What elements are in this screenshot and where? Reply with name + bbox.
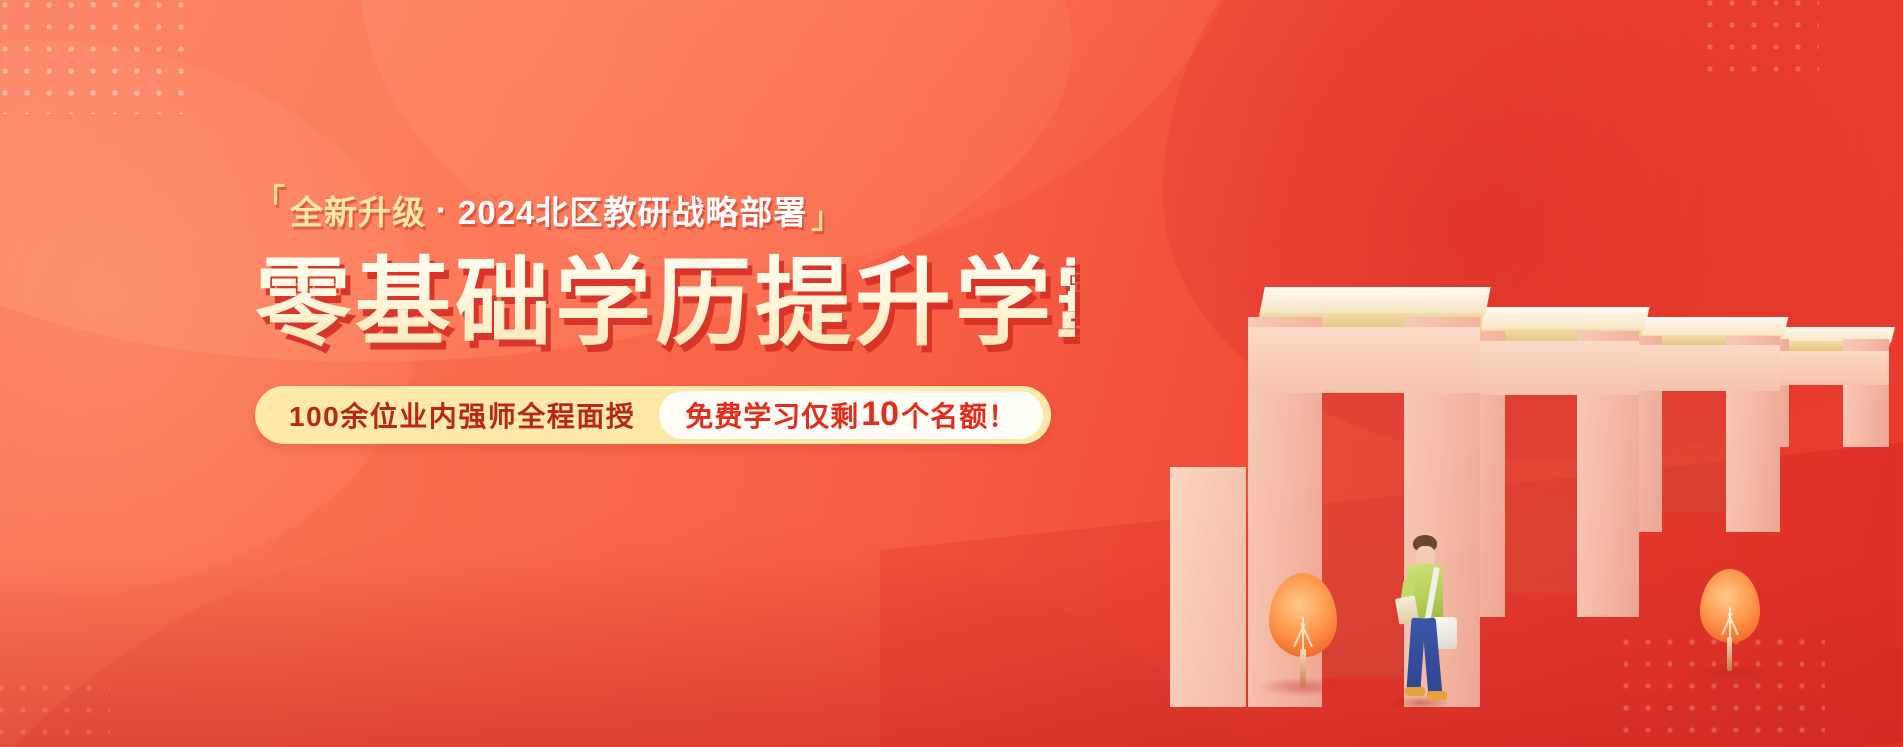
book-arch-4 <box>1743 327 1893 447</box>
book-lintel <box>1443 341 1639 395</box>
dot-pattern-top-right <box>1699 0 1819 82</box>
book-lintel <box>1248 327 1480 393</box>
tree-trunk <box>1727 637 1732 671</box>
subtitle-separator: · <box>436 191 448 229</box>
background-wave-bottom <box>0 507 1380 747</box>
book-open-panel <box>1170 467 1246 707</box>
student-face <box>1416 546 1435 566</box>
book-arch-1 <box>1248 287 1483 707</box>
student-held-book <box>1395 595 1419 624</box>
tree-left <box>1263 573 1343 689</box>
book-inner-shade <box>1505 395 1577 593</box>
tree-shadow <box>1689 663 1773 681</box>
book-leg <box>1743 339 1789 447</box>
book-leg <box>1726 336 1780 532</box>
tree-branch <box>1293 623 1305 648</box>
offer-pill-count: 10 <box>859 395 901 434</box>
book-cap <box>1259 287 1490 315</box>
promo-banner: 「 全新升级 · 2024北区教研战略部署 」 零基础学历提升学霸班 100余位… <box>0 0 1903 747</box>
book-pages <box>1256 313 1484 333</box>
book-arch-2 <box>1443 307 1643 617</box>
student-bag-strap <box>1424 567 1440 623</box>
book-leg <box>1577 331 1639 617</box>
student-leg <box>1407 618 1426 691</box>
book-leg <box>1404 317 1480 707</box>
subtitle-rest: 2024北区教研战略部署 <box>458 186 807 234</box>
book-lintel <box>1608 345 1780 391</box>
offer-pill-inner[interactable]: 免费学习仅剩 10 个名额！ <box>659 391 1043 439</box>
tree-crown <box>1269 573 1337 657</box>
tree-branch <box>1301 623 1313 648</box>
tree-shadow <box>1257 677 1349 697</box>
bracket-open-icon: 「 <box>255 186 286 216</box>
student-figure <box>1393 535 1463 705</box>
offer-pill-suffix: 个名额！ <box>901 395 1017 435</box>
tree-crown <box>1700 569 1760 643</box>
book-cap <box>1749 327 1895 343</box>
student-shoe <box>1427 691 1447 700</box>
tree-branch <box>1302 617 1304 651</box>
student-leg <box>1422 618 1443 695</box>
student-jacket <box>1407 564 1443 620</box>
book-lintel <box>1743 351 1889 385</box>
offer-pill[interactable]: 100余位业内强师全程面授 免费学习仅剩 10 个名额！ <box>255 386 1051 444</box>
book-leg <box>1248 317 1322 707</box>
background-floor-gradient <box>0 557 1903 747</box>
offer-pill-left-text: 100余位业内强师全程面授 <box>289 395 659 435</box>
book-leg <box>1608 336 1662 532</box>
offer-pill-prefix: 免费学习仅剩 <box>685 395 859 435</box>
book-pages <box>1449 329 1642 345</box>
book-cap <box>1616 317 1789 337</box>
dot-pattern-top-left <box>0 0 184 114</box>
background-wave-diagonal <box>880 424 1903 747</box>
book-leg <box>1443 331 1505 617</box>
student-shoe <box>1405 687 1425 696</box>
book-pages <box>1613 335 1782 349</box>
background-wave-right <box>1163 0 1903 460</box>
tree-branch <box>1721 613 1733 636</box>
book-inner-shade <box>1322 393 1404 677</box>
student-shadow <box>1389 695 1451 711</box>
dot-pattern-bottom-left <box>0 677 110 747</box>
book-leg <box>1843 339 1889 447</box>
student-hair <box>1413 535 1437 552</box>
student-arm <box>1398 578 1415 617</box>
tree-trunk <box>1300 649 1306 687</box>
page-title: 零基础学历提升学霸班 <box>255 252 1075 356</box>
tree-branch <box>1729 607 1731 639</box>
banner-copy: 「 全新升级 · 2024北区教研战略部署 」 零基础学历提升学霸班 100余位… <box>255 186 1075 444</box>
tree-right <box>1695 569 1767 673</box>
book-inner-shade <box>1662 391 1726 513</box>
book-arch-3 <box>1608 317 1783 532</box>
bracket-close-icon: 」 <box>811 204 842 234</box>
book-pages <box>1748 341 1891 353</box>
tree-branch <box>1727 613 1739 636</box>
banner-subtitle: 「 全新升级 · 2024北区教研战略部署 」 <box>255 186 1075 234</box>
dot-pattern-bottom-right <box>1615 631 1825 747</box>
subtitle-highlight: 全新升级 <box>290 186 426 234</box>
book-cap <box>1452 307 1649 331</box>
student-bag <box>1431 617 1457 649</box>
